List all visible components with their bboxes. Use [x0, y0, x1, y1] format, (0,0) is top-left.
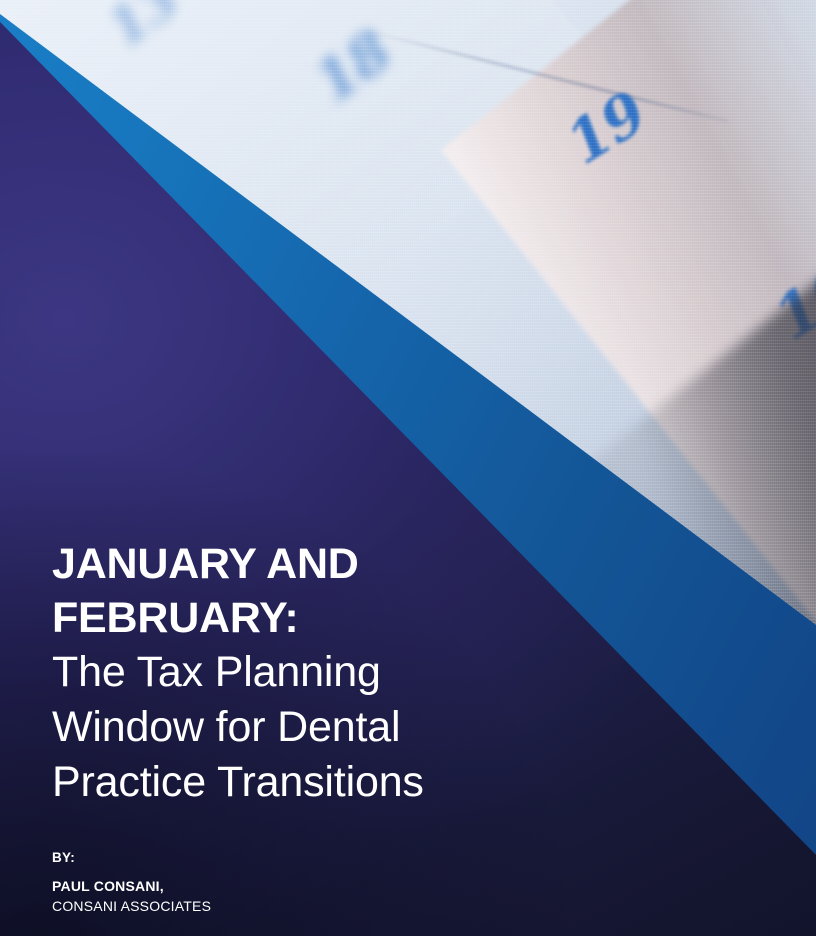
page-subtitle-line-3: Practice Transitions — [52, 755, 582, 810]
cover-page: 13 18 19 16 JANUARY AND FEBRUARY: The Ta… — [0, 0, 816, 936]
page-title: JANUARY AND FEBRUARY: — [52, 537, 582, 645]
byline-author: PAUL CONSANI, — [52, 877, 211, 897]
byline-label: BY: — [52, 848, 211, 868]
page-subtitle-line-1: The Tax Planning — [52, 645, 582, 700]
cover-title-block: JANUARY AND FEBRUARY: The Tax Planning W… — [52, 537, 582, 810]
page-subtitle-line-2: Window for Dental — [52, 700, 582, 755]
byline-organization: CONSANI ASSOCIATES — [52, 897, 211, 917]
byline: BY: PAUL CONSANI, CONSANI ASSOCIATES — [52, 848, 211, 917]
